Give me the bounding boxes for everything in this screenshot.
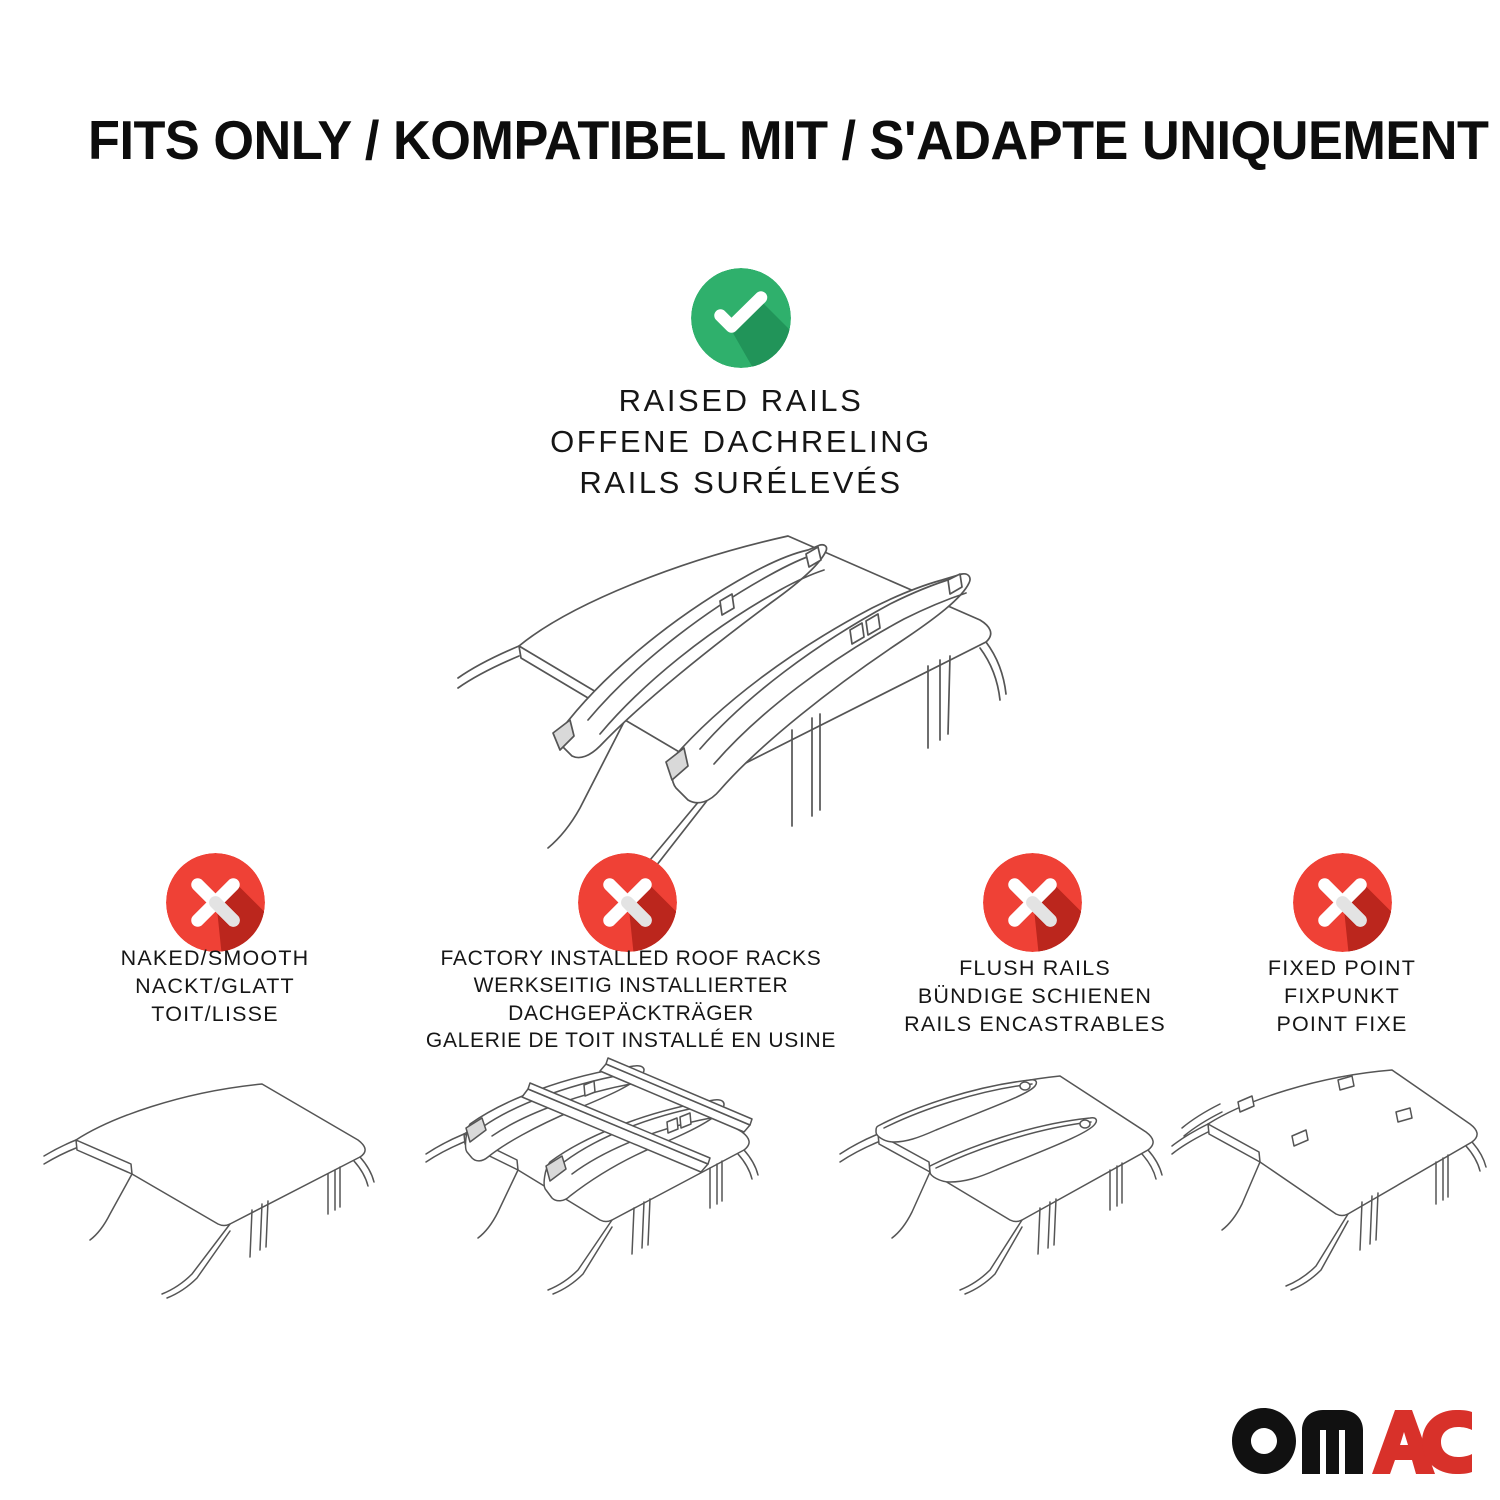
car-roof-fixed-point-illustration — [1170, 1062, 1500, 1292]
cross-circle-icon — [1293, 853, 1392, 952]
compatible-label: RAISED RAILS OFFENE DACHRELING RAILS SUR… — [441, 380, 1041, 504]
cross-circle-icon — [578, 853, 677, 952]
cross-circle-icon — [983, 853, 1082, 952]
page-title: FITS ONLY / KOMPATIBEL MIT / S'ADAPTE UN… — [88, 108, 1488, 172]
cross-circle-icon — [166, 853, 265, 952]
fitment-chart-page: FITS ONLY / KOMPATIBEL MIT / S'ADAPTE UN… — [0, 0, 1500, 1500]
car-roof-naked-illustration — [40, 1062, 400, 1292]
incompatible-label-fixed-point: FIXED POINT FIXPUNKT POINT FIXE — [1192, 955, 1492, 1039]
incompatible-label-naked: NAKED/SMOOTH NACKT/GLATT TOIT/LISSE — [20, 945, 410, 1029]
omac-logo — [1232, 1408, 1472, 1474]
incompatible-label-flush-rails: FLUSH RAILS BÜNDIGE SCHIENEN RAILS ENCAS… — [845, 955, 1225, 1039]
incompatible-label-factory-racks: FACTORY INSTALLED ROOF RACKS WERKSEITIG … — [398, 945, 864, 1054]
check-circle-icon — [691, 268, 791, 368]
car-roof-factory-racks-illustration — [412, 1062, 792, 1292]
car-roof-flush-rails-illustration — [832, 1062, 1222, 1292]
car-roof-raised-rails-illustration — [420, 508, 1080, 828]
